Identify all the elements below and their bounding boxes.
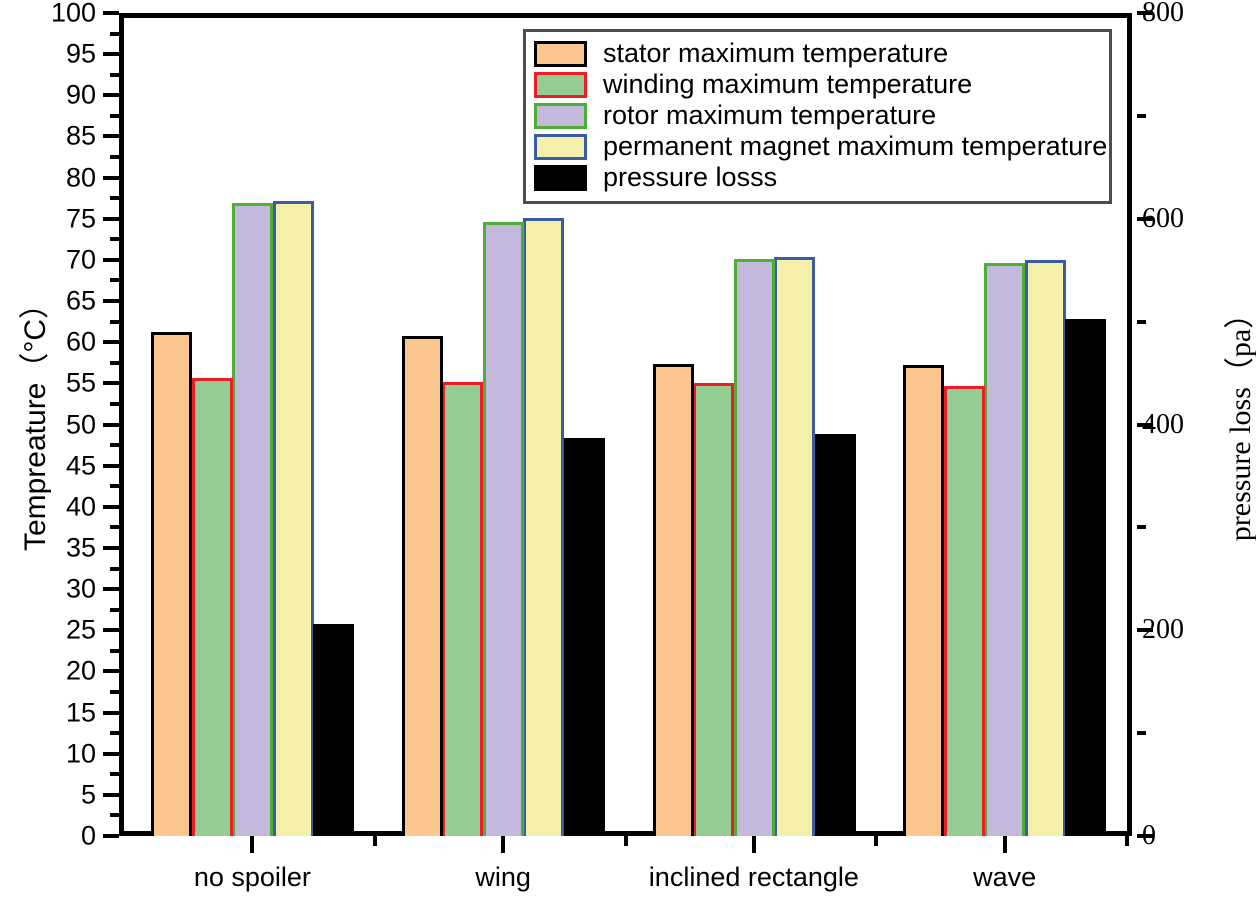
y-axis-tick-label: 55 (66, 368, 96, 399)
bar (483, 222, 524, 836)
y-axis-tick-label: 90 (66, 80, 96, 111)
y-axis-tick-major (103, 258, 119, 262)
y-axis-tick-minor (110, 484, 119, 488)
y2-axis-tick-label: 800 (1142, 0, 1184, 29)
y-axis-tick-minor (110, 608, 119, 612)
y-axis-tick-minor (110, 772, 119, 776)
y-axis-tick-major (103, 464, 119, 468)
y-axis-tick-major (103, 340, 119, 344)
y2-axis-tick-label: 0 (1142, 820, 1156, 852)
bar (1025, 260, 1066, 836)
y-axis-tick-minor (110, 73, 119, 77)
bar (273, 201, 314, 836)
bar (944, 386, 985, 836)
y-axis-tick-minor (110, 320, 119, 324)
legend-item-label: pressure losss (603, 164, 777, 191)
bar (232, 203, 273, 836)
bar (734, 259, 775, 836)
y2-axis-tick-label: 400 (1142, 409, 1184, 441)
bar (523, 218, 564, 836)
x-axis-tick-major (752, 836, 756, 853)
legend-item-label: stator maximum temperature (603, 40, 948, 67)
y-axis-tick-major (103, 217, 119, 221)
y-axis-tick-major (103, 93, 119, 97)
bar (313, 624, 354, 836)
x-axis-tick-major (250, 836, 254, 853)
y-axis-tick-label: 35 (66, 532, 96, 563)
y-axis-tick-label: 45 (66, 450, 96, 481)
y-axis-tick-label: 60 (66, 327, 96, 358)
bar (693, 383, 734, 836)
y-axis-tick-label: 20 (66, 656, 96, 687)
y-axis-tick-major (103, 587, 119, 591)
y-axis-tick-major (103, 834, 119, 838)
x-axis-category-label: wing (475, 862, 531, 893)
y-axis-tick-label: 80 (66, 162, 96, 193)
y-axis-tick-major (103, 134, 119, 138)
bar-chart: Tempreature（°C） pressure loss（pa） 051015… (0, 0, 1256, 898)
legend-swatch-icon (534, 165, 587, 191)
y-axis-tick-major (103, 546, 119, 550)
y-axis-tick-minor (110, 443, 119, 447)
y-axis-tick-label: 10 (66, 738, 96, 769)
y-axis-tick-minor (110, 196, 119, 200)
y-axis-tick-major (103, 628, 119, 632)
y-axis-tick-minor (110, 32, 119, 36)
y2-axis-tick-minor (1137, 731, 1146, 735)
y2-axis-tick-minor (1137, 114, 1146, 118)
x-axis-category-label: inclined rectangle (649, 862, 859, 893)
y-axis-tick-label: 100 (51, 0, 96, 29)
y-axis-tick-major (103, 381, 119, 385)
y-axis-tick-label: 65 (66, 286, 96, 317)
y-axis-tick-minor (110, 649, 119, 653)
y-axis-tick-label: 5 (81, 779, 96, 810)
y-axis-tick-major (103, 505, 119, 509)
legend-item[interactable]: pressure losss (534, 162, 1101, 193)
legend-item-label: rotor maximum temperature (603, 102, 936, 129)
y-axis-tick-major (103, 752, 119, 756)
bar (984, 263, 1025, 836)
legend-item-label: winding maximum temperature (603, 71, 972, 98)
bar (815, 434, 856, 836)
legend-item[interactable]: rotor maximum temperature (534, 100, 1101, 131)
x-axis-tick-major (1003, 836, 1007, 853)
bar (1065, 319, 1106, 836)
legend-swatch-icon (534, 72, 587, 98)
bar (903, 365, 944, 836)
chart-legend: stator maximum temperaturewinding maximu… (523, 29, 1112, 204)
y-axis-tick-minor (110, 813, 119, 817)
bar (442, 382, 483, 836)
y-axis-tick-major (103, 711, 119, 715)
bar (653, 364, 694, 836)
y-axis-tick-major (103, 299, 119, 303)
y-axis-tick-label: 85 (66, 121, 96, 152)
y-axis-tick-minor (110, 278, 119, 282)
bar (402, 336, 443, 836)
y2-axis-tick-label: 200 (1142, 614, 1184, 646)
y-axis-title-left: Tempreature（°C） (10, 100, 54, 740)
x-axis-category-label: no spoiler (194, 862, 311, 893)
legend-item[interactable]: permanent magnet maximum temperature (534, 131, 1101, 162)
y-axis-tick-minor (110, 114, 119, 118)
y-axis-tick-label: 30 (66, 574, 96, 605)
y-axis-tick-label: 75 (66, 203, 96, 234)
y-axis-tick-label: 95 (66, 39, 96, 70)
y-axis-tick-label: 70 (66, 244, 96, 275)
y-axis-tick-major (103, 52, 119, 56)
x-axis-tick-major (501, 836, 505, 853)
y-axis-tick-minor (110, 731, 119, 735)
y2-axis-tick-minor (1137, 525, 1146, 529)
y-axis-tick-major (103, 11, 119, 15)
legend-swatch-icon (534, 41, 587, 67)
y-axis-tick-minor (110, 690, 119, 694)
legend-swatch-icon (534, 134, 587, 160)
y-axis-tick-label: 25 (66, 615, 96, 646)
y-axis-tick-major (103, 793, 119, 797)
y-axis-tick-major (103, 176, 119, 180)
legend-swatch-icon (534, 103, 587, 129)
legend-item-label: permanent magnet maximum temperature (603, 133, 1107, 160)
y2-axis-tick-minor (1137, 320, 1146, 324)
x-axis-tick-minor (624, 836, 628, 846)
x-axis-tick-minor (874, 836, 878, 846)
x-axis-tick-minor (1125, 836, 1129, 846)
y-axis-tick-label: 50 (66, 409, 96, 440)
x-axis-category-label: wave (973, 862, 1036, 893)
x-axis-tick-minor (373, 836, 377, 846)
bar (192, 378, 233, 836)
y-axis-tick-major (103, 669, 119, 673)
legend-item[interactable]: stator maximum temperature (534, 38, 1101, 69)
y-axis-tick-minor (110, 567, 119, 571)
legend-item[interactable]: winding maximum temperature (534, 69, 1101, 100)
y-axis-tick-minor (110, 361, 119, 365)
y-axis-tick-minor (110, 155, 119, 159)
y2-axis-tick-label: 600 (1142, 203, 1184, 235)
y-axis-tick-minor (110, 237, 119, 241)
y-axis-title-right: pressure loss（pa） (1215, 100, 1256, 740)
y-axis-tick-label: 15 (66, 697, 96, 728)
y-axis-tick-minor (110, 525, 119, 529)
y-axis-tick-minor (110, 402, 119, 406)
y-axis-tick-label: 0 (81, 821, 96, 852)
y-axis-tick-label: 40 (66, 491, 96, 522)
bar (564, 438, 605, 836)
bar (151, 332, 192, 836)
bar (774, 257, 815, 836)
y-axis-tick-major (103, 423, 119, 427)
